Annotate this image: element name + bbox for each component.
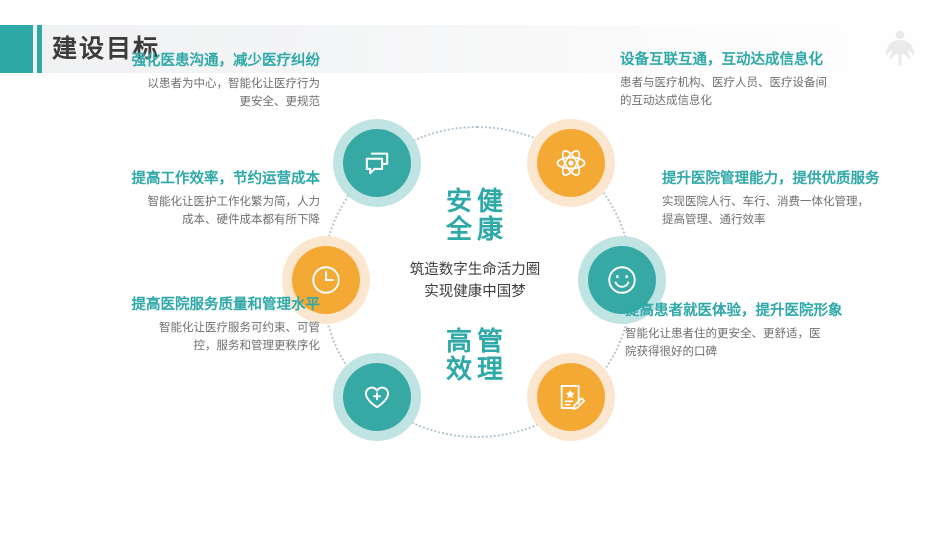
label-description: 实现医院人行、车行、消费一体化管理， 提高管理、通行效率: [662, 194, 950, 230]
node-inner-circle: [537, 129, 605, 197]
chat-bubbles-icon: [360, 146, 394, 180]
label-description: 患者与医疗机构、医疗人员、医疗设备间 的互动达成信息化: [620, 75, 920, 111]
header-accent-bar: [37, 25, 42, 73]
label-smiley: 提升医院管理能力，提供优质服务 实现医院人行、车行、消费一体化管理， 提高管理、…: [662, 170, 950, 229]
node-inner-circle: [537, 363, 605, 431]
node-heart-plus[interactable]: [333, 353, 421, 441]
node-inner-circle: [343, 129, 411, 197]
label-desc-line-1: 患者与医疗机构、医疗人员、医疗设备间: [620, 75, 920, 93]
center-keywords-top: 安全 健康: [395, 188, 555, 243]
label-description: 智能化让医疗服务可约束、可管 控，服务和管理更秩序化: [70, 320, 320, 356]
document-star-pencil-icon: [554, 380, 588, 414]
label-description: 以患者为中心，智能化让医疗行为 更安全、更规范: [70, 76, 320, 112]
slogan-line-2: 实现健康中国梦: [370, 281, 580, 303]
label-desc-line-2: 成本、硬件成本都有所下降: [55, 212, 320, 230]
keyword-health: 健康: [477, 188, 504, 243]
label-description: 智能化让患者住的更安全、更舒适，医 院获得很好的口碑: [625, 326, 925, 362]
atom-icon: [554, 146, 588, 180]
label-desc-line-2: 院获得很好的口碑: [625, 344, 925, 362]
label-desc-line-2: 控，服务和管理更秩序化: [70, 338, 320, 356]
label-atom: 设备互联互通，互动达成信息化 患者与医疗机构、医疗人员、医疗设备间 的互动达成信…: [620, 51, 920, 110]
label-desc-line-2: 提高管理、通行效率: [662, 212, 950, 230]
label-title: 设备互联互通，互动达成信息化: [620, 51, 920, 70]
header-accent-block: [0, 25, 33, 73]
label-desc-line-1: 以患者为中心，智能化让医疗行为: [70, 76, 320, 94]
center-keywords-bottom: 高效 管理: [395, 328, 555, 383]
label-title: 强化医患沟通，减少医疗纠纷: [70, 52, 320, 71]
label-document-review: 提高患者就医体验，提升医院形象 智能化让患者住的更安全、更舒适，医 院获得很好的…: [625, 302, 925, 361]
label-desc-line-2: 更安全、更规范: [70, 94, 320, 112]
label-title: 提高医院服务质量和管理水平: [70, 296, 320, 315]
slogan-line-1: 筑造数字生命活力圈: [370, 259, 580, 281]
keyword-management: 管理: [477, 328, 504, 383]
keyword-safety: 安全: [446, 188, 473, 243]
label-desc-line-1: 智能化让患者住的更安全、更舒适，医: [625, 326, 925, 344]
label-chat-bubbles: 强化医患沟通，减少医疗纠纷 以患者为中心，智能化让医疗行为 更安全、更规范: [70, 52, 320, 111]
node-document-review[interactable]: [527, 353, 615, 441]
label-desc-line-1: 实现医院人行、车行、消费一体化管理，: [662, 194, 950, 212]
node-inner-circle: [343, 363, 411, 431]
heart-plus-icon: [360, 380, 394, 414]
center-slogan: 筑造数字生命活力圈 实现健康中国梦: [370, 259, 580, 304]
keyword-efficiency: 高效: [446, 328, 473, 383]
label-title: 提高工作效率，节约运营成本: [55, 170, 320, 189]
node-atom[interactable]: [527, 119, 615, 207]
label-description: 智能化让医护工作化繁为简，人力 成本、硬件成本都有所下降: [55, 194, 320, 230]
label-title: 提升医院管理能力，提供优质服务: [662, 170, 950, 189]
clock-icon: [309, 263, 343, 297]
node-chat-bubbles[interactable]: [333, 119, 421, 207]
label-desc-line-1: 智能化让医护工作化繁为简，人力: [55, 194, 320, 212]
smiley-face-icon: [605, 263, 639, 297]
label-heart-plus: 提高医院服务质量和管理水平 智能化让医疗服务可约束、可管 控，服务和管理更秩序化: [70, 296, 320, 355]
label-desc-line-2: 的互动达成信息化: [620, 93, 920, 111]
label-desc-line-1: 智能化让医疗服务可约束、可管: [70, 320, 320, 338]
label-title: 提高患者就医体验，提升医院形象: [625, 302, 925, 321]
label-clock: 提高工作效率，节约运营成本 智能化让医护工作化繁为简，人力 成本、硬件成本都有所…: [55, 170, 320, 229]
